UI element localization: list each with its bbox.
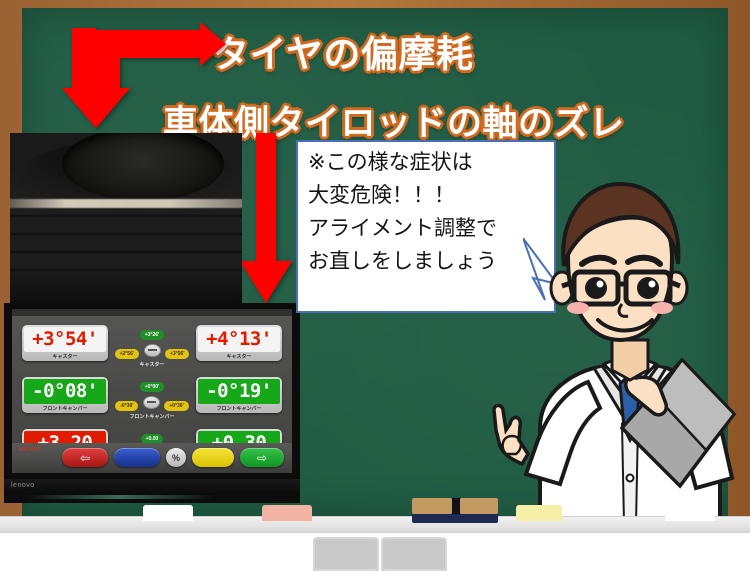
tire-tread-line bbox=[10, 215, 242, 217]
blush-right bbox=[651, 302, 673, 314]
monitor-bezel bbox=[4, 479, 300, 495]
camber-right-readout: -0°19' フロントキャンバー bbox=[196, 377, 282, 413]
camber-max-pill: +0°30' bbox=[164, 401, 188, 411]
caster-left-label: キャスター bbox=[24, 352, 106, 361]
alignment-screen: +3°54' キャスター +3°26' +2°56' +3°56' キャスター … bbox=[12, 309, 292, 473]
blackboard-eraser-left-felt[interactable] bbox=[412, 498, 452, 514]
camber-center-label: フロントキャンバー bbox=[104, 413, 200, 420]
screen-toolbar: ARF30HP ⇦ % ⇨ bbox=[12, 443, 292, 473]
caster-center-gauge: +3°26' +2°56' +3°56' キャスター bbox=[104, 323, 200, 368]
chalk-tray bbox=[0, 516, 750, 534]
caster-target-pill: +3°26' bbox=[140, 330, 164, 340]
camber-left-readout: -0°08' フロントキャンバー bbox=[22, 377, 108, 413]
tire-tread-line bbox=[10, 251, 242, 253]
caster-right-value: +4°13' bbox=[198, 327, 280, 352]
eye-left bbox=[585, 277, 607, 299]
tire-tread-line bbox=[10, 233, 242, 235]
mechanic-instructor bbox=[470, 178, 750, 524]
camber-right-value: -0°19' bbox=[198, 379, 280, 404]
monitor-stand bbox=[24, 495, 214, 499]
eye-right bbox=[637, 277, 659, 299]
caster-left-value: +3°54' bbox=[24, 327, 106, 352]
camber-center-gauge: +0°00' -0°30' +0°30' フロントキャンバー bbox=[104, 375, 200, 420]
camber-target-pill: +0°00' bbox=[140, 382, 164, 392]
angle-display-button[interactable] bbox=[114, 448, 160, 467]
next-arrow-button[interactable]: ⇨ bbox=[240, 448, 284, 467]
arrow-down-icon bbox=[238, 133, 294, 305]
back-arrow-button[interactable]: ⇦ bbox=[62, 448, 108, 467]
camber-min-pill: -0°30' bbox=[115, 401, 138, 411]
caster-center-label: キャスター bbox=[104, 361, 200, 368]
bottom-panel-left[interactable] bbox=[313, 537, 379, 571]
chalk-yellow[interactable] bbox=[516, 505, 562, 521]
camber-right-label: フロントキャンバー bbox=[198, 404, 280, 413]
elbow-arrow-right-down-icon bbox=[58, 22, 228, 130]
screenshot-root: タイヤの偏摩耗 車体側タイロッドの軸のズレ +3°54' bbox=[0, 0, 750, 569]
chalk-white-2[interactable] bbox=[665, 505, 715, 521]
screen-topbar bbox=[12, 309, 292, 316]
chalk-white[interactable] bbox=[143, 505, 193, 521]
warning-line-1: ※この様な症状は bbox=[308, 149, 544, 177]
blush-left bbox=[567, 302, 589, 314]
caster-min-pill: +2°56' bbox=[115, 349, 139, 359]
bottom-panel-right[interactable] bbox=[381, 537, 447, 571]
device-logo: ARF30HP bbox=[18, 447, 41, 453]
tire-wear-band bbox=[10, 199, 242, 208]
page-title-line1: タイヤの偏摩耗 bbox=[212, 24, 473, 78]
camber-left-value: -0°08' bbox=[24, 379, 106, 404]
blackboard-eraser-divider bbox=[452, 498, 460, 514]
blackboard-eraser-right-felt[interactable] bbox=[460, 498, 498, 514]
camber-gauge-icon bbox=[143, 396, 160, 409]
caster-right-readout: +4°13' キャスター bbox=[196, 325, 282, 361]
worn-tire-photo bbox=[10, 133, 242, 305]
camber-left-label: フロントキャンバー bbox=[24, 404, 106, 413]
caster-gauge-icon bbox=[144, 344, 161, 357]
percent-button[interactable]: % bbox=[166, 448, 186, 467]
caster-left-readout: +3°54' キャスター bbox=[22, 325, 108, 361]
blackboard-eraser-body[interactable] bbox=[412, 514, 498, 523]
tire-shadow bbox=[10, 265, 242, 305]
yellow-button[interactable] bbox=[192, 448, 234, 467]
caster-right-label: キャスター bbox=[198, 352, 280, 361]
caster-max-pill: +3°56' bbox=[165, 349, 189, 359]
wheel-alignment-monitor: +3°54' キャスター +3°26' +2°56' +3°56' キャスター … bbox=[4, 303, 300, 503]
chalk-pink[interactable] bbox=[262, 505, 312, 521]
monitor-brand: lenovo bbox=[11, 482, 35, 489]
